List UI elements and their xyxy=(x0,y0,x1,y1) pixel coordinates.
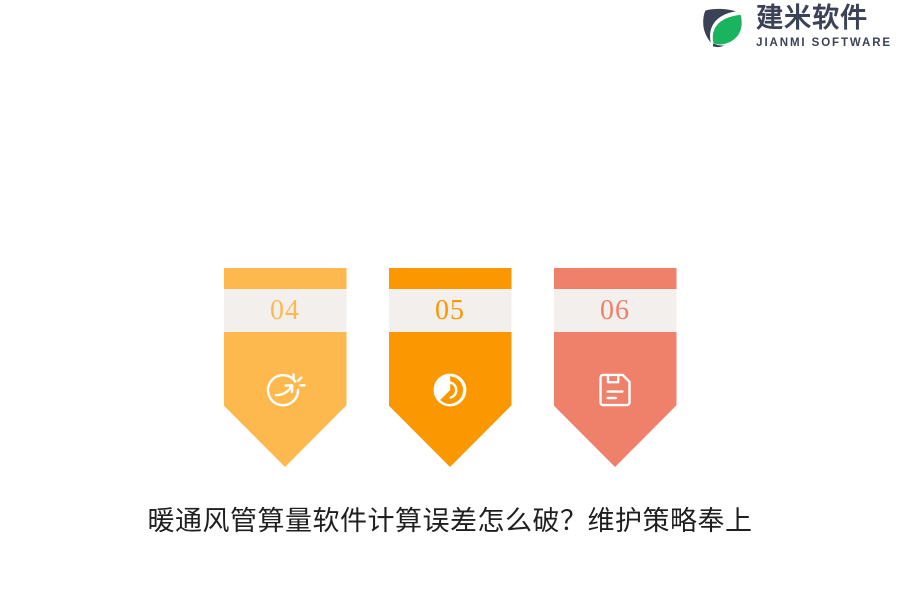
badge-04-number: 04 xyxy=(270,297,300,325)
broadcast-signal-circle-icon xyxy=(424,364,476,416)
growth-arrow-circle-icon xyxy=(259,364,311,416)
badge-row: 04 05 06 xyxy=(0,268,900,467)
jianmi-leaf-swoosh-logo-icon xyxy=(700,4,746,50)
brand-name-cn: 建米软件 xyxy=(756,5,892,32)
brand-logo-text: 建米软件 JIANMI SOFTWARE xyxy=(756,5,892,50)
brand-name-en: JIANMI SOFTWARE xyxy=(756,38,892,50)
badge-06-number: 06 xyxy=(600,297,630,325)
badge-04-number-band: 04 xyxy=(224,289,347,332)
brand-logo: 建米软件 JIANMI SOFTWARE xyxy=(700,4,892,50)
badge-04: 04 xyxy=(224,268,347,467)
badge-06-number-band: 06 xyxy=(554,289,677,332)
page-caption: 暖通风管算量软件计算误差怎么破？维护策略奉上 xyxy=(0,503,900,541)
badge-05-number-band: 05 xyxy=(389,289,512,332)
badge-06: 06 xyxy=(554,268,677,467)
badge-05: 05 xyxy=(389,268,512,467)
badge-05-number: 05 xyxy=(435,297,465,325)
save-floppy-disk-icon xyxy=(589,364,641,416)
